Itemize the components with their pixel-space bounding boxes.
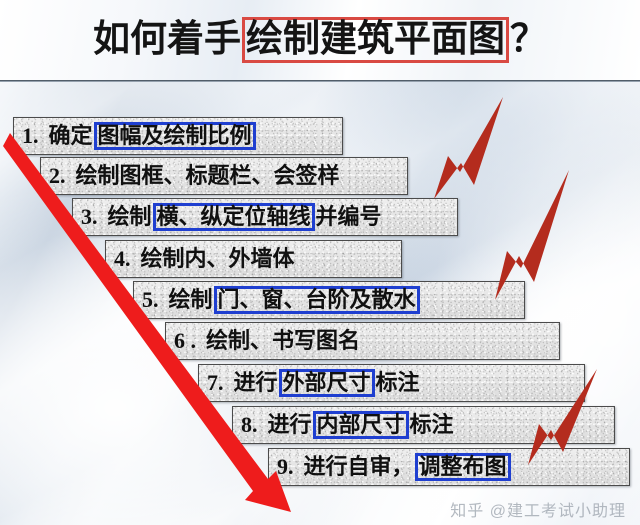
step-item-3: 3. 绘制横、纵定位轴线并编号: [72, 198, 458, 236]
step-item-5: 5. 绘制门、窗、台阶及散水: [133, 281, 525, 319]
step-before-6: 绘制、书写图名: [206, 330, 360, 352]
watermark: 知乎 @建工考试小助理: [450, 497, 626, 521]
step-highlight-1: 图幅及绘制比例: [94, 122, 256, 150]
title-highlight: 绘制建筑平面图: [242, 17, 509, 63]
step-highlight-7: 外部尺寸: [279, 369, 375, 397]
step-item-4: 4. 绘制内、外墙体: [105, 240, 402, 278]
step-text-3: 3. 绘制横、纵定位轴线并编号: [73, 203, 382, 231]
step-text-7: 7. 进行外部尺寸标注: [199, 369, 420, 397]
step-before-7: 进行: [234, 372, 278, 394]
step-text-1: 1. 确定图幅及绘制比例: [14, 122, 257, 150]
step-number-5: 5.: [142, 289, 169, 311]
step-highlight-5: 门、窗、台阶及散水: [214, 286, 420, 314]
title-suffix: ？: [510, 21, 547, 58]
step-highlight-9: 调整布图: [415, 453, 511, 481]
step-before-4: 绘制内、外墙体: [141, 248, 295, 270]
step-text-8: 8. 进行内部尺寸标注: [233, 411, 454, 439]
step-number-9: 9.: [277, 456, 304, 478]
step-text-2: 2. 绘制图框、标题栏、会签样: [41, 165, 340, 187]
step-before-8: 进行: [268, 414, 312, 436]
title-prefix: 如何着手: [93, 21, 241, 58]
step-item-1: 1. 确定图幅及绘制比例: [13, 117, 343, 155]
step-number-2: 2.: [49, 165, 76, 187]
step-number-3: 3.: [81, 206, 108, 228]
step-after-3: 并编号: [316, 206, 382, 228]
step-before-2: 绘制图框、标题栏、会签样: [76, 165, 340, 187]
step-highlight-3: 横、纵定位轴线: [153, 203, 315, 231]
title-area: 如何着手绘制建筑平面图？: [0, 0, 640, 80]
step-before-9: 进行自审，: [304, 456, 414, 478]
header-divider-rule: [0, 80, 640, 82]
step-after-8: 标注: [410, 414, 454, 436]
step-item-9: 9. 进行自审，调整布图: [268, 448, 630, 486]
step-item-6: 6 . 绘制、书写图名: [165, 322, 560, 360]
step-text-5: 5. 绘制门、窗、台阶及散水: [134, 286, 421, 314]
step-item-8: 8. 进行内部尺寸标注: [232, 406, 615, 444]
step-number-8: 8.: [241, 414, 268, 436]
step-highlight-8: 内部尺寸: [313, 411, 409, 439]
step-text-6: 6 . 绘制、书写图名: [166, 330, 360, 352]
step-item-7: 7. 进行外部尺寸标注: [198, 364, 585, 402]
step-number-1: 1.: [22, 125, 49, 147]
step-before-1: 确定: [49, 125, 93, 147]
step-before-3: 绘制: [108, 206, 152, 228]
step-number-7: 7.: [207, 372, 234, 394]
step-after-7: 标注: [376, 372, 420, 394]
step-text-9: 9. 进行自审，调整布图: [269, 453, 512, 481]
page-title: 如何着手绘制建筑平面图？: [93, 17, 547, 63]
slide-canvas: 如何着手绘制建筑平面图？ 1. 确定图幅及绘制比例 2. 绘制图框、标题栏、会签…: [0, 0, 640, 525]
step-before-5: 绘制: [169, 289, 213, 311]
step-item-2: 2. 绘制图框、标题栏、会签样: [40, 157, 408, 195]
step-number-6: 6 .: [174, 330, 206, 352]
step-text-4: 4. 绘制内、外墙体: [106, 248, 295, 270]
step-number-4: 4.: [114, 248, 141, 270]
